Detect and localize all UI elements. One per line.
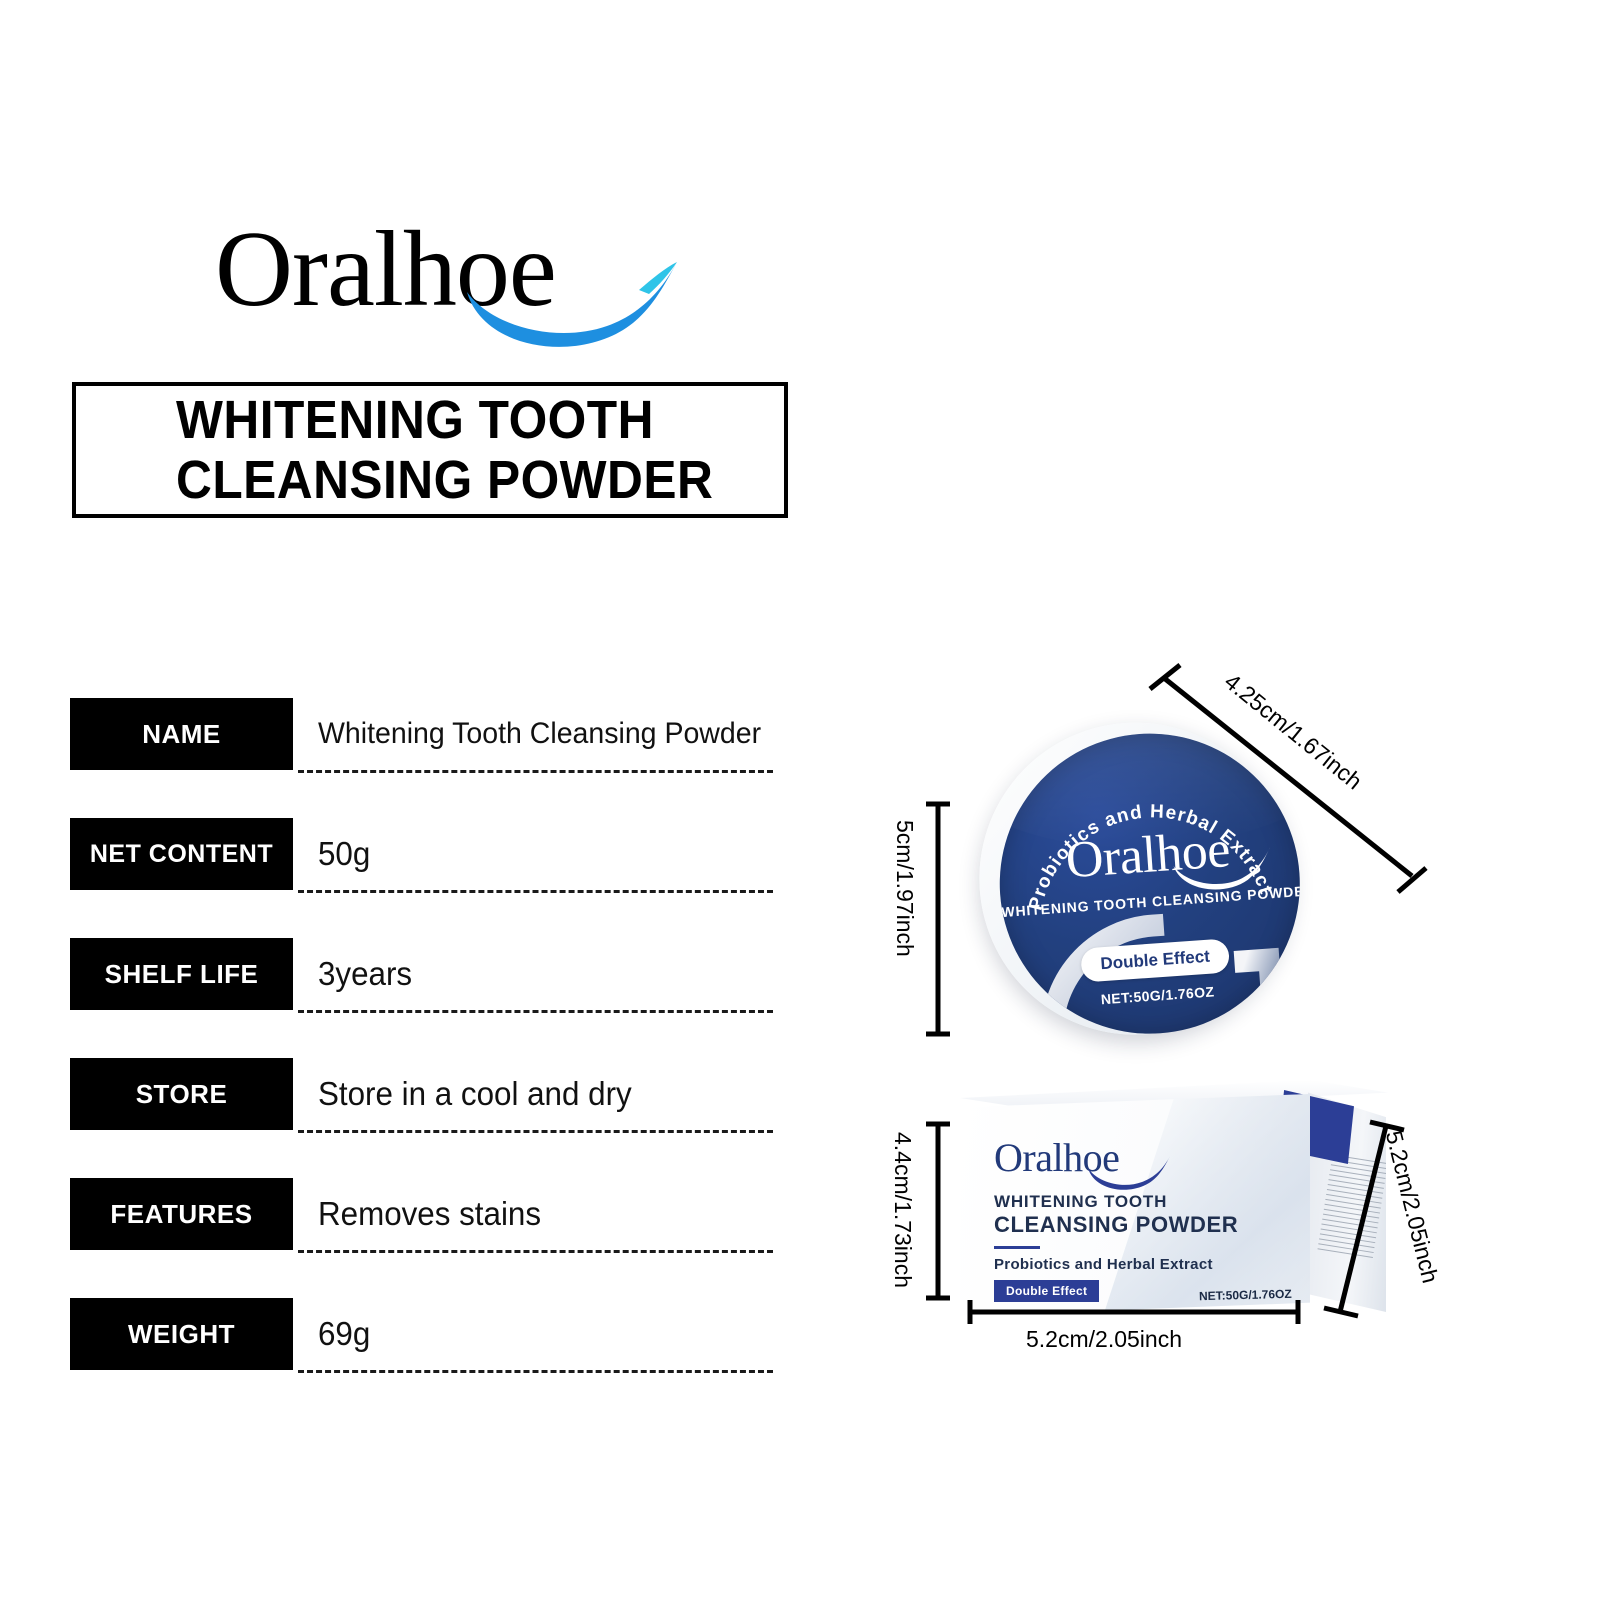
carton-divider <box>994 1246 1040 1249</box>
dimension-carton-depth: 5.2cm/2.05inch <box>1330 1110 1450 1330</box>
spec-underline <box>298 1370 773 1373</box>
spec-value-features: Removes stains <box>318 1178 541 1250</box>
carton-brand-logo: Oralhoe <box>994 1138 1224 1178</box>
spec-value-shelf-life: 3years <box>318 938 412 1010</box>
spec-underline <box>298 1130 773 1133</box>
dimension-carton-width: 5.2cm/2.05inch <box>964 1300 1304 1324</box>
dimension-carton-height: 4.4cm/1.73inch <box>926 1118 950 1304</box>
spec-label-features: FEATURES <box>70 1178 293 1250</box>
spec-value-net-content: 50g <box>318 818 370 890</box>
carton-double-effect-badge: Double Effect <box>994 1280 1099 1302</box>
spec-underline <box>298 1010 773 1013</box>
dimension-jar-height-label: 5cm/1.97inch <box>891 820 918 957</box>
dimension-carton-height-label: 4.4cm/1.73inch <box>889 1132 916 1288</box>
product-image: Oralhoe WHITENING TOOTH CLEANSING POWDER… <box>860 640 1500 1380</box>
spec-value-name: Whitening Tooth Cleansing Powder <box>318 698 761 770</box>
page-title: WHITENING TOOTH CLEANSING POWDER <box>72 382 788 518</box>
carton-front-face: Oralhoe WHITENING TOOTH CLEANSING POWDER… <box>960 1094 1310 1316</box>
spec-underline <box>298 890 773 893</box>
dimension-carton-width-label: 5.2cm/2.05inch <box>1026 1326 1182 1353</box>
table-row: SHELF LIFE 3years <box>70 938 780 1058</box>
dimension-jar-height: 5cm/1.97inch <box>926 798 950 1040</box>
carton-swoosh-icon <box>1086 1152 1172 1196</box>
brand-logo: Oralhoe <box>215 216 715 356</box>
spec-table: NAME Whitening Tooth Cleansing Powder NE… <box>70 698 780 1418</box>
page-title-line-2: CLEANSING POWDER <box>176 450 735 510</box>
spec-label-shelf-life: SHELF LIFE <box>70 938 293 1010</box>
spec-underline <box>298 770 773 773</box>
dimension-jar-diameter: 4.25cm/1.67inch <box>1150 660 1440 900</box>
carton-subtitle: Probiotics and Herbal Extract <box>994 1256 1213 1273</box>
carton-product-name-line-2: CLEANSING POWDER <box>994 1212 1238 1238</box>
product-carton: Oralhoe WHITENING TOOTH CLEANSING POWDER… <box>960 1080 1310 1320</box>
spec-label-store: STORE <box>70 1058 293 1130</box>
spec-label-weight: WEIGHT <box>70 1298 293 1370</box>
table-row: NET CONTENT 50g <box>70 818 780 938</box>
table-row: STORE Store in a cool and dry <box>70 1058 780 1178</box>
spec-label-name: NAME <box>70 698 293 770</box>
spec-value-store: Store in a cool and dry <box>318 1058 632 1130</box>
carton-product-name-line-1: WHITENING TOOTH <box>994 1192 1238 1212</box>
brand-swoosh-icon <box>463 252 683 362</box>
spec-value-weight: 69g <box>318 1298 370 1370</box>
spec-label-net-content: NET CONTENT <box>70 818 293 890</box>
table-row: WEIGHT 69g <box>70 1298 780 1418</box>
page-title-line-1: WHITENING TOOTH <box>176 390 735 450</box>
carton-product-name: WHITENING TOOTH CLEANSING POWDER <box>994 1192 1238 1238</box>
table-row: NAME Whitening Tooth Cleansing Powder <box>70 698 780 818</box>
spec-underline <box>298 1250 773 1253</box>
table-row: FEATURES Removes stains <box>70 1178 780 1298</box>
